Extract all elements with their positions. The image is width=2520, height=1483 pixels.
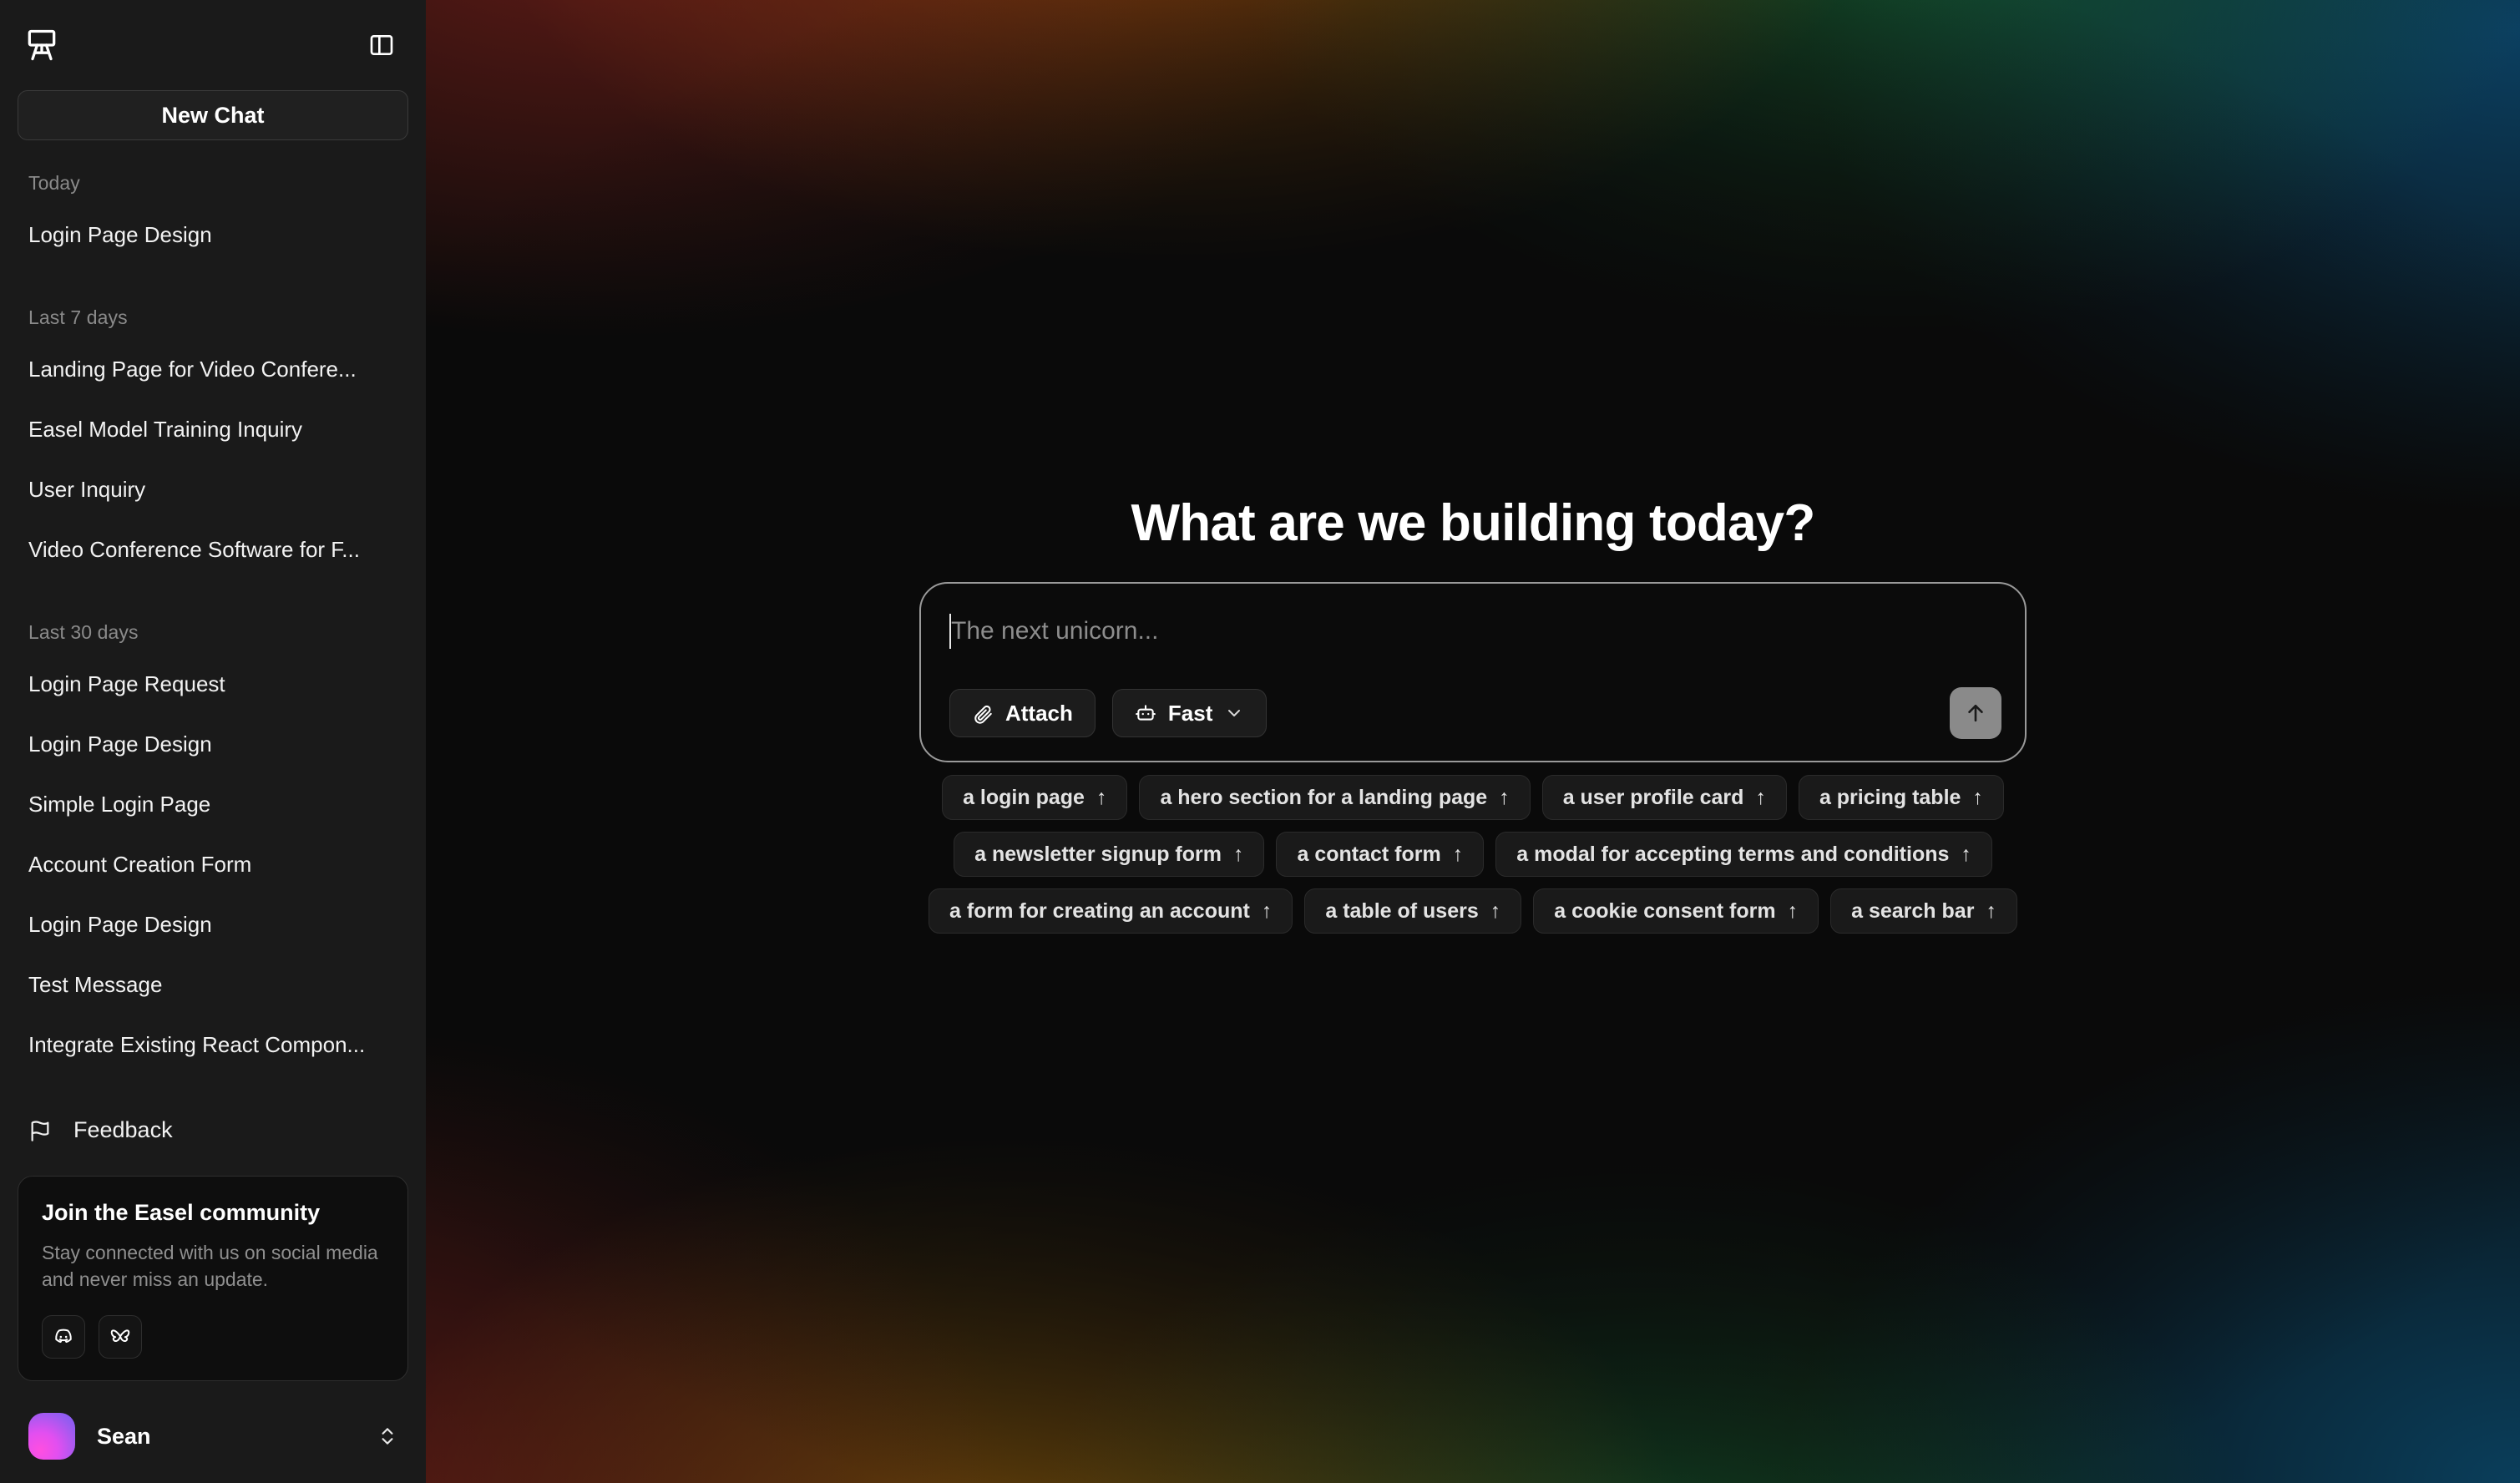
- prompt-input[interactable]: The next unicorn...: [949, 612, 1996, 650]
- chat-item[interactable]: Account Creation Form: [0, 846, 426, 883]
- arrow-up-icon: ↑: [1096, 786, 1107, 810]
- arrow-up-icon: ↑: [1986, 899, 1996, 924]
- suggestion-chip[interactable]: a modal for accepting terms and conditio…: [1495, 832, 1992, 877]
- chat-item[interactable]: Login Page Request: [0, 666, 426, 702]
- community-title: Join the Easel community: [42, 1200, 384, 1226]
- suggestion-chip[interactable]: a hero section for a landing page↑: [1139, 775, 1530, 820]
- suggestion-chip[interactable]: a newsletter signup form↑: [954, 832, 1264, 877]
- send-button[interactable]: [1950, 687, 2001, 739]
- suggestion-chips: a login page↑ a hero section for a landi…: [888, 775, 2057, 934]
- spacer: [0, 591, 426, 621]
- user-name: Sean: [97, 1424, 355, 1450]
- arrow-up-icon: ↑: [1961, 843, 1971, 867]
- group-label: Last 30 days: [0, 621, 426, 644]
- model-label: Fast: [1168, 701, 1212, 726]
- arrow-up-icon: ↑: [1233, 843, 1244, 867]
- community-card: Join the Easel community Stay connected …: [18, 1176, 408, 1381]
- social-links: [42, 1315, 384, 1359]
- community-subtitle: Stay connected with us on social media a…: [42, 1239, 384, 1293]
- group-label: Today: [0, 172, 426, 195]
- chip-label: a form for creating an account: [949, 899, 1250, 924]
- prompt-composer[interactable]: The next unicorn... Attach: [919, 582, 2027, 762]
- suggestion-chip[interactable]: a search bar↑: [1830, 888, 2017, 934]
- chat-item[interactable]: Login Page Design: [0, 216, 426, 253]
- suggestion-chip[interactable]: a user profile card↑: [1542, 775, 1787, 820]
- chevron-down-icon[interactable]: [1224, 703, 1244, 723]
- chip-label: a contact form: [1297, 843, 1440, 867]
- chat-group-today: Today Login Page Design: [0, 172, 426, 253]
- arrow-up-icon: ↑: [1788, 899, 1799, 924]
- chat-item[interactable]: Easel Model Training Inquiry: [0, 411, 426, 448]
- suggestion-chip[interactable]: a contact form↑: [1276, 832, 1484, 877]
- arrow-up-icon: ↑: [1262, 899, 1273, 924]
- flag-icon: [28, 1119, 52, 1142]
- main-canvas: What are we building today? The next uni…: [426, 0, 2520, 1483]
- suggestion-chip[interactable]: a pricing table↑: [1799, 775, 2004, 820]
- chip-label: a user profile card: [1563, 786, 1744, 810]
- arrow-up-icon: ↑: [1972, 786, 1983, 810]
- chevron-up-down-icon[interactable]: [377, 1425, 398, 1447]
- arrow-up-icon: ↑: [1755, 786, 1766, 810]
- avatar: [28, 1413, 75, 1460]
- sidebar: New Chat Today Login Page Design Last 7 …: [0, 0, 426, 1483]
- suggestion-chip[interactable]: a cookie consent form↑: [1533, 888, 1819, 934]
- bot-icon: [1135, 702, 1156, 724]
- chat-item[interactable]: Login Page Design: [0, 726, 426, 762]
- chip-label: a modal for accepting terms and conditio…: [1516, 843, 1949, 867]
- user-menu[interactable]: Sean: [18, 1389, 408, 1483]
- suggestion-chip[interactable]: a login page↑: [942, 775, 1127, 820]
- page-title: What are we building today?: [426, 493, 2520, 553]
- sidebar-header: [0, 0, 426, 90]
- app-root: New Chat Today Login Page Design Last 7 …: [0, 0, 2520, 1483]
- sidebar-footer: Feedback Join the Easel community Stay c…: [0, 1101, 426, 1483]
- chip-label: a table of users: [1325, 899, 1478, 924]
- arrow-up-icon: [1963, 701, 1988, 726]
- easel-icon[interactable]: [18, 22, 65, 68]
- bluesky-butterfly-icon[interactable]: [99, 1315, 142, 1359]
- arrow-up-icon: ↑: [1453, 843, 1464, 867]
- chat-item[interactable]: Video Conference Software for F...: [0, 531, 426, 568]
- prompt-placeholder: The next unicorn...: [951, 617, 1158, 645]
- attach-label: Attach: [1005, 701, 1073, 726]
- chat-group-last-7-days: Last 7 days Landing Page for Video Confe…: [0, 306, 426, 568]
- attach-button[interactable]: Attach: [949, 689, 1096, 737]
- suggestion-chip[interactable]: a table of users↑: [1304, 888, 1521, 934]
- paperclip-icon: [972, 702, 994, 724]
- feedback-button[interactable]: Feedback: [18, 1101, 408, 1161]
- chip-label: a newsletter signup form: [974, 843, 1222, 867]
- discord-icon[interactable]: [42, 1315, 85, 1359]
- arrow-up-icon: ↑: [1499, 786, 1510, 810]
- group-label: Last 7 days: [0, 306, 426, 329]
- chat-item[interactable]: Integrate Existing React Compon...: [0, 1026, 426, 1063]
- chip-label: a hero section for a landing page: [1160, 786, 1487, 810]
- spacer: [0, 276, 426, 306]
- new-chat-button[interactable]: New Chat: [18, 90, 408, 140]
- chip-label: a search bar: [1851, 899, 1974, 924]
- panel-left-icon[interactable]: [362, 26, 401, 64]
- chat-item[interactable]: Simple Login Page: [0, 786, 426, 822]
- chip-label: a pricing table: [1819, 786, 1961, 810]
- chat-item[interactable]: Landing Page for Video Confere...: [0, 351, 426, 387]
- composer-toolbar: Attach Fast: [949, 689, 1996, 737]
- feedback-label: Feedback: [73, 1117, 173, 1143]
- suggestion-chip[interactable]: a form for creating an account↑: [929, 888, 1293, 934]
- chat-item[interactable]: Test Message: [0, 966, 426, 1003]
- arrow-up-icon: ↑: [1490, 899, 1501, 924]
- chip-label: a login page: [963, 786, 1085, 810]
- chat-item[interactable]: Login Page Design: [0, 906, 426, 943]
- chip-label: a cookie consent form: [1554, 899, 1775, 924]
- chat-item[interactable]: User Inquiry: [0, 471, 426, 508]
- model-selector[interactable]: Fast: [1112, 689, 1267, 737]
- chat-group-last-30-days: Last 30 days Login Page Request Login Pa…: [0, 621, 426, 1063]
- new-chat-container: New Chat: [0, 90, 426, 140]
